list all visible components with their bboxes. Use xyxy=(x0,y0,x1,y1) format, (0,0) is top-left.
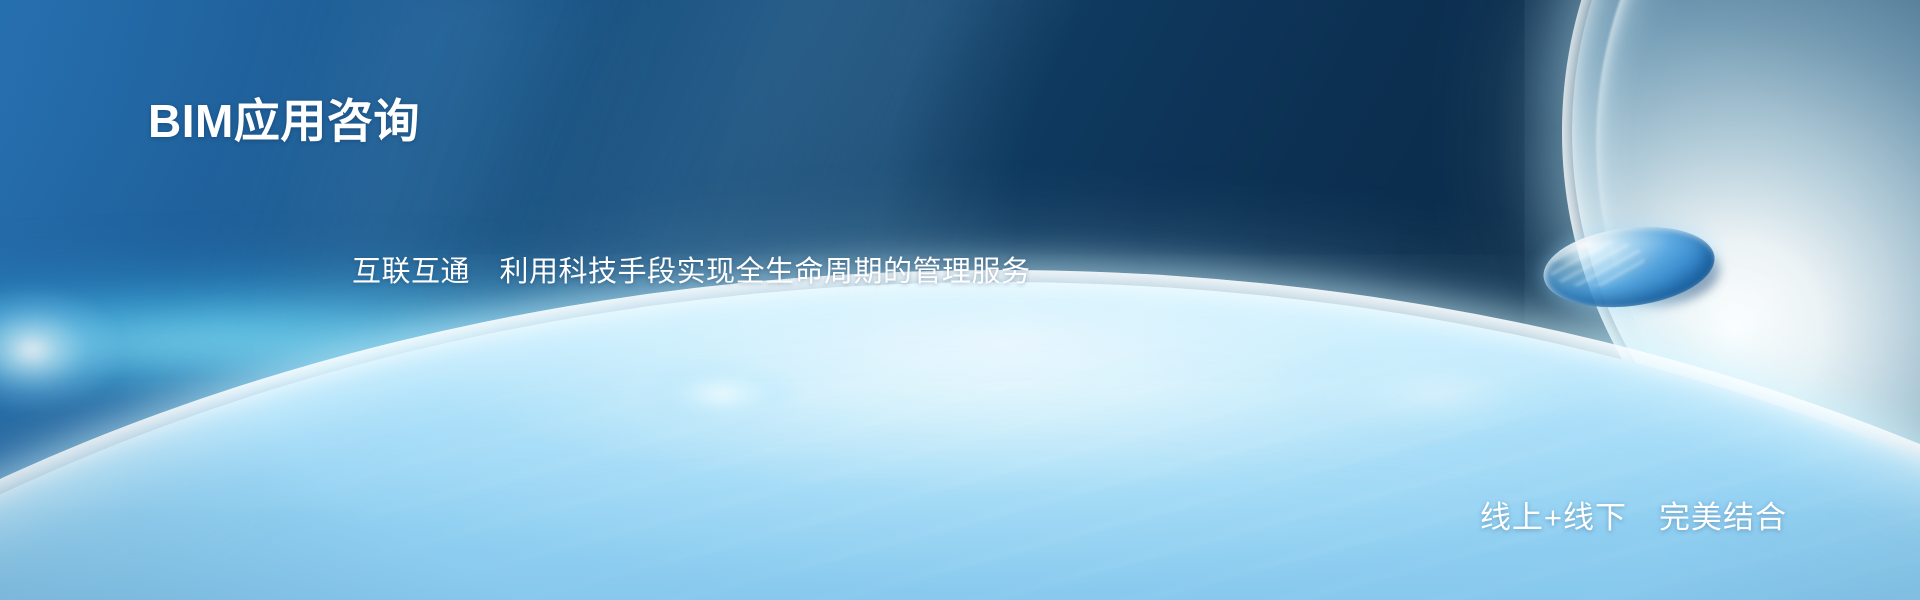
page-subtitle: 互联互通 利用科技手段实现全生命周期的管理服务 xyxy=(352,248,1031,290)
page-tagline: 线上+线下 完美结合 xyxy=(1480,492,1787,537)
banner-text-layer: BIM应用咨询 互联互通 利用科技手段实现全生命周期的管理服务 线上+线下 完美… xyxy=(0,0,1920,600)
bim-hero-banner: BIM应用咨询 互联互通 利用科技手段实现全生命周期的管理服务 线上+线下 完美… xyxy=(0,0,1920,600)
page-title: BIM应用咨询 xyxy=(148,96,420,147)
